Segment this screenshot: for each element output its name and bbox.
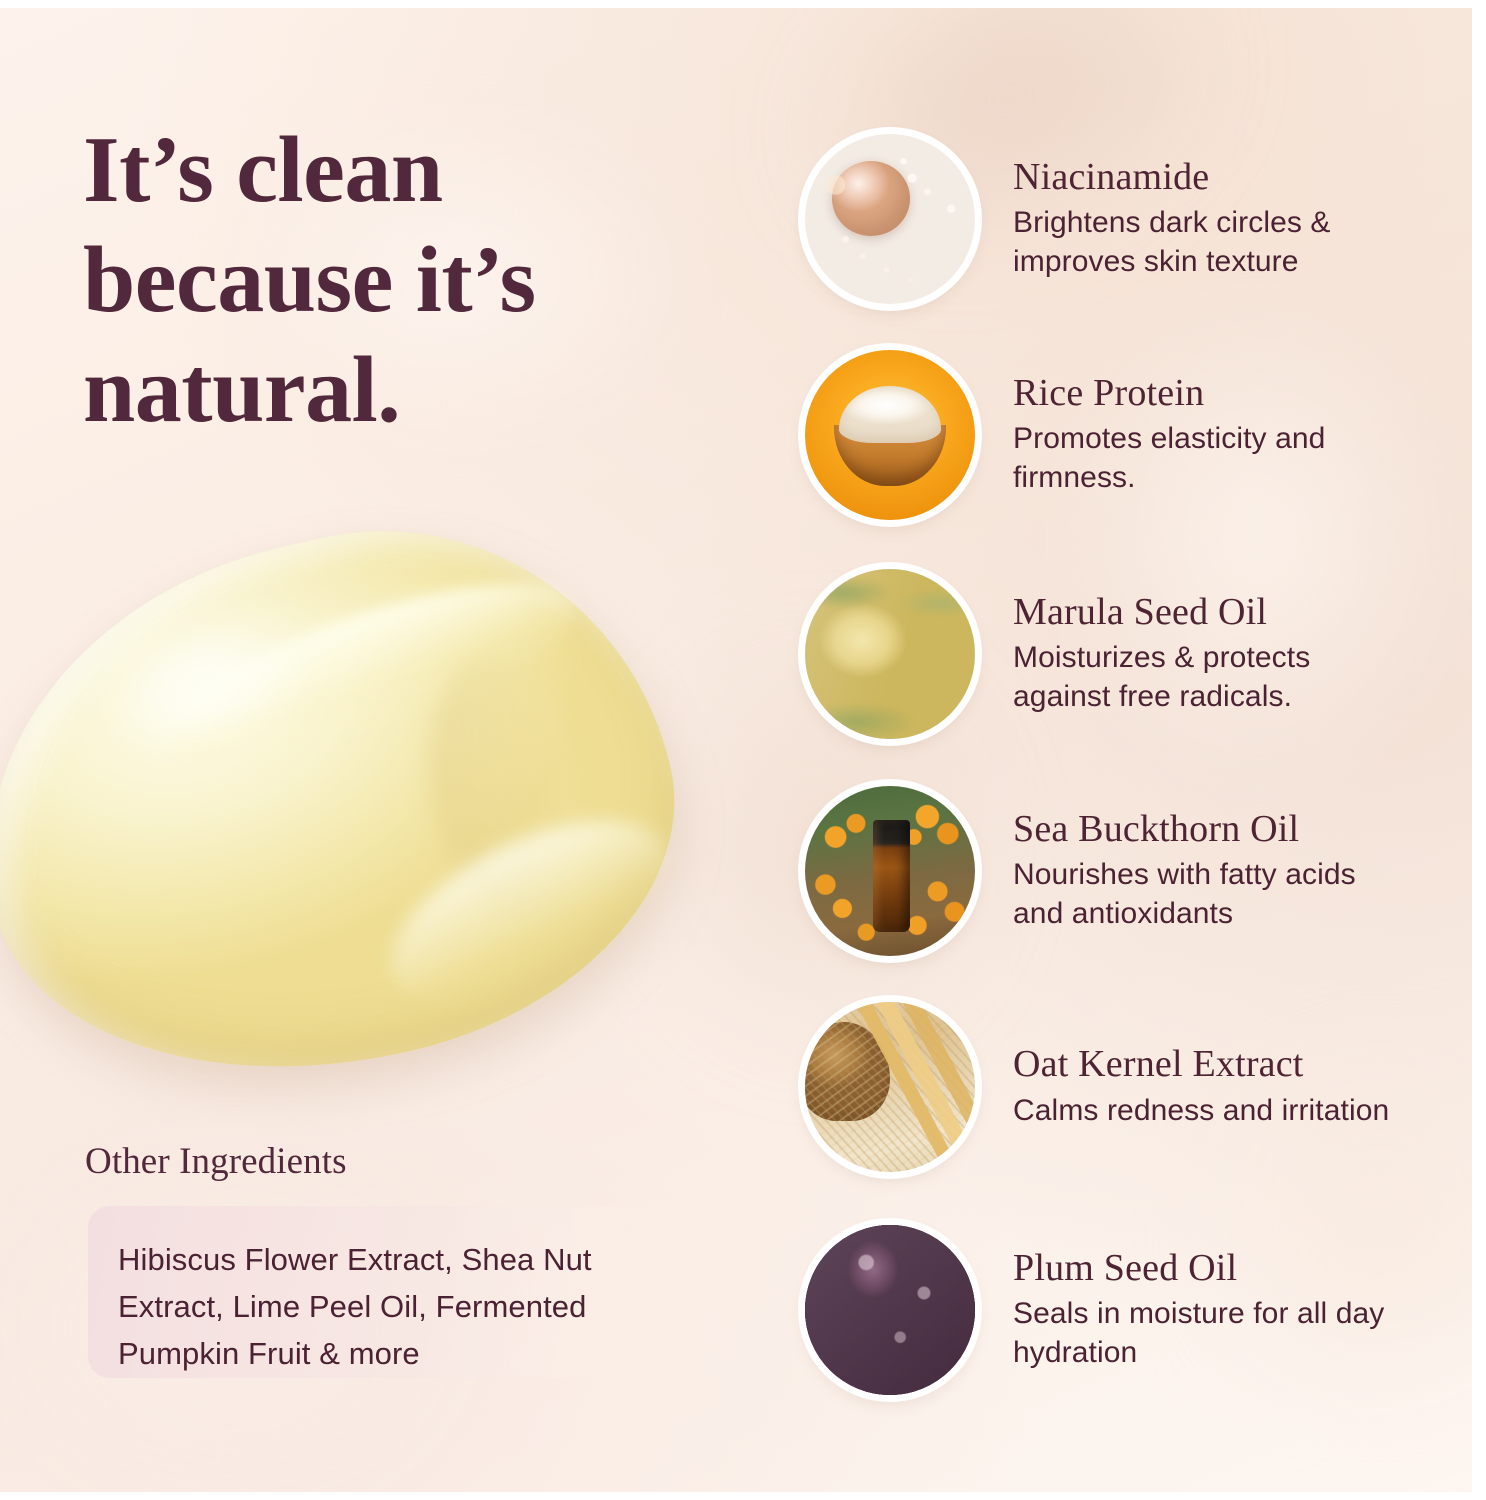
ingredient-name: Oat Kernel Extract xyxy=(1013,1044,1389,1085)
oat-kernels-image xyxy=(805,1002,975,1172)
ingredient-description: Brightens dark circles & improves skin t… xyxy=(1013,203,1413,281)
ingredient-row-oat-kernel-extract: Oat Kernel Extract Calms redness and irr… xyxy=(805,1001,1425,1173)
ingredient-name: Rice Protein xyxy=(1013,373,1413,414)
ingredient-description: Calms redness and irritation xyxy=(1013,1091,1389,1130)
other-ingredients-title: Other Ingredients xyxy=(85,1140,347,1183)
ingredient-row-rice-protein: Rice Protein Promotes elasticity and fir… xyxy=(805,349,1425,521)
marula-fruit-image xyxy=(805,569,975,739)
ingredient-name: Sea Buckthorn Oil xyxy=(1013,809,1413,850)
ingredient-description: Nourishes with fatty acids and antioxida… xyxy=(1013,855,1413,933)
ingredient-description: Promotes elasticity and firmness. xyxy=(1013,419,1413,497)
ingredient-row-plum-seed-oil: Plum Seed Oil Seals in moisture for all … xyxy=(805,1224,1425,1396)
niacinamide-serum-bubbles-image xyxy=(805,134,975,304)
other-ingredients-text: Hibiscus Flower Extract, Shea Nut Extrac… xyxy=(118,1236,678,1377)
ingredient-name: Niacinamide xyxy=(1013,157,1413,198)
ingredient-row-sea-buckthorn-oil: Sea Buckthorn Oil Nourishes with fatty a… xyxy=(805,785,1425,957)
headline: It’s clean because it’s natural. xyxy=(83,116,783,446)
ingredient-infographic: It’s clean because it’s natural. Other I… xyxy=(0,8,1472,1492)
cream-swatch-image xyxy=(0,506,750,1146)
headline-line-2: because it’s xyxy=(83,226,783,336)
ingredient-row-niacinamide: Niacinamide Brightens dark circles & imp… xyxy=(805,133,1425,305)
rice-bowl-image xyxy=(805,350,975,520)
headline-line-1: It’s clean xyxy=(83,116,783,226)
headline-line-3: natural. xyxy=(83,336,783,446)
ingredient-description: Moisturizes & protects against free radi… xyxy=(1013,638,1413,716)
sea-buckthorn-oil-bottle-image xyxy=(805,786,975,956)
ingredient-row-marula-seed-oil: Marula Seed Oil Moisturizes & protects a… xyxy=(805,568,1425,740)
ingredient-description: Seals in moisture for all day hydration xyxy=(1013,1294,1413,1372)
plums-image xyxy=(805,1225,975,1395)
ingredient-name: Marula Seed Oil xyxy=(1013,592,1413,633)
ingredient-name: Plum Seed Oil xyxy=(1013,1248,1413,1289)
